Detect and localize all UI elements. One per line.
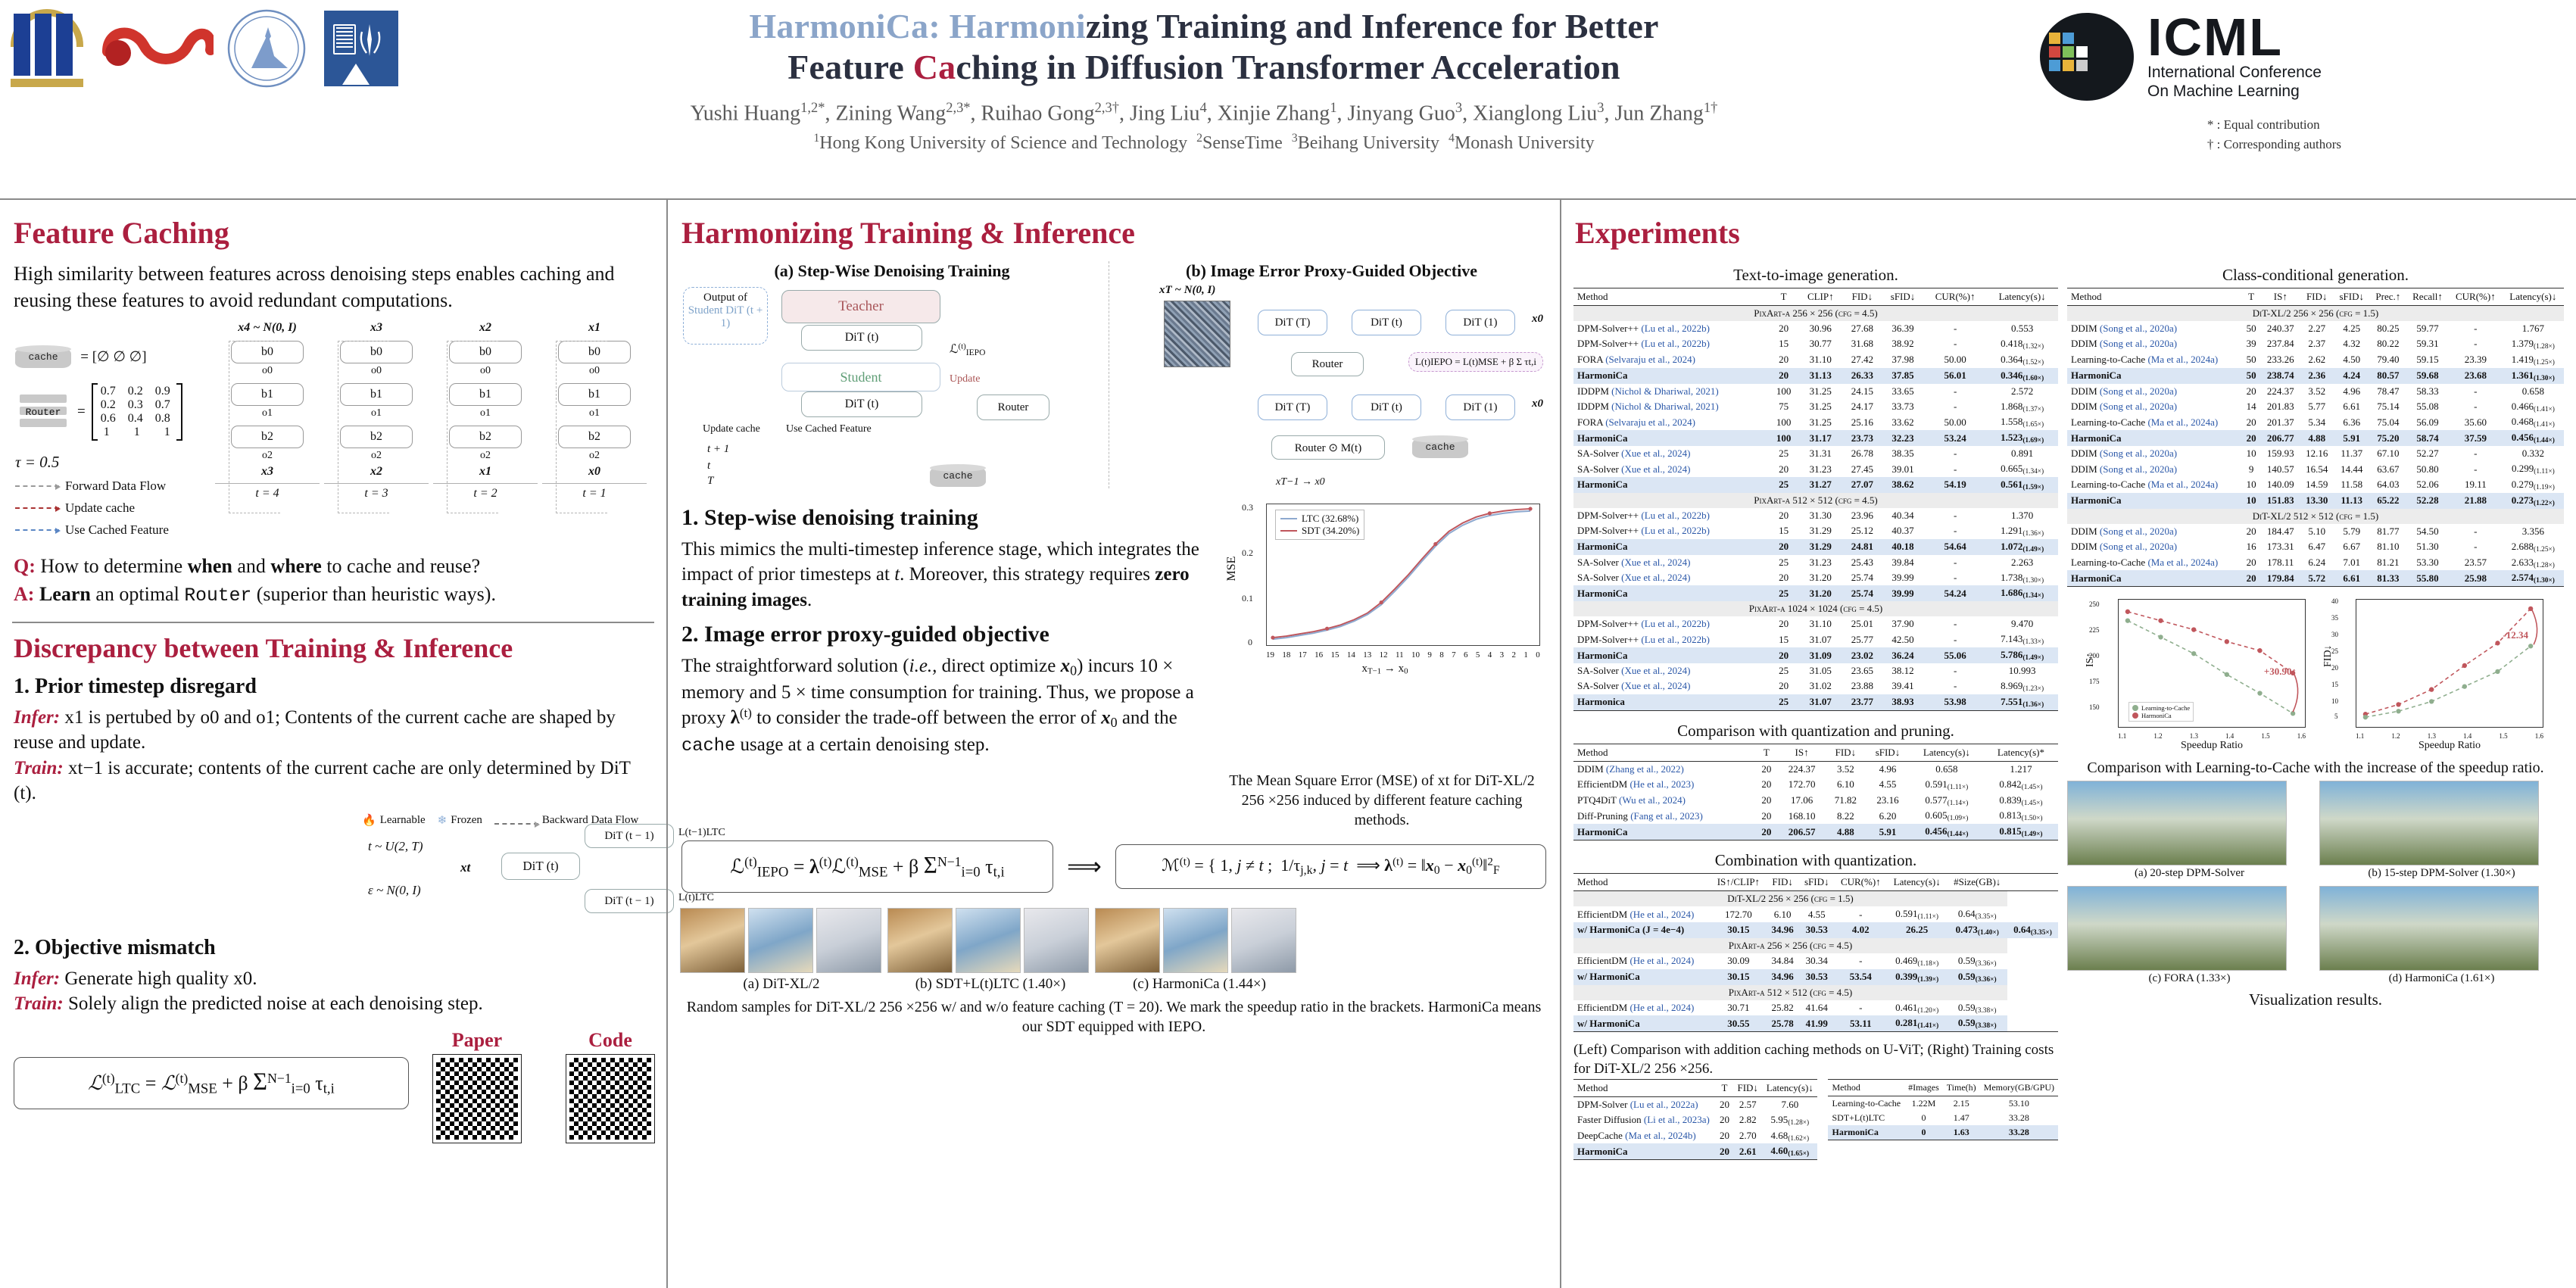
implication-arrow-icon: ⟹: [1067, 852, 1102, 881]
table-cell-method: DDIM (Song et al., 2020a): [2067, 446, 2241, 461]
table-cell: 0.468(1.41×): [2503, 414, 2564, 430]
table-cell: 0.561(1.59×): [1986, 477, 2058, 493]
table-group-row: DiT-XL/2 256 × 256 (cfg = 1.5): [2067, 306, 2564, 322]
table-cell-method: DDIM (Song et al., 2020a): [2067, 524, 2241, 539]
table-cell: -: [1924, 446, 1986, 461]
table-group-row: PixArt-α 1024 × 1024 (cfg = 4.5): [1573, 601, 2058, 616]
table-cell: 27.07: [1843, 477, 1882, 493]
table-cell: 30.15: [1711, 922, 1766, 938]
table-cell: 25.43: [1843, 555, 1882, 570]
chart-mse: MSE 0.3 0.2 0.1 0: [1222, 496, 1548, 678]
mse-ytick: 0.3: [1242, 502, 1253, 513]
table-cell: 1.868(1.37×): [1986, 399, 2058, 415]
table-cell-method: DPM-Solver++ (Lu et al., 2022b): [1573, 632, 1769, 647]
institution-logos: [8, 6, 403, 91]
student-dit-node: DiT (t): [801, 391, 922, 417]
table-row: SDT+L(t)LTC01.4733.28: [1828, 1111, 2058, 1125]
table-cell: 16.54: [2300, 461, 2334, 477]
sample-caption-c: (c) HarmoniCa (1.44×): [1098, 976, 1301, 993]
cache-icon-a: cache: [930, 467, 986, 487]
table-cell: 5.786(1.49×): [1986, 647, 2058, 663]
table-cell: 23.65: [1843, 663, 1882, 678]
table-cell: 1.291(1.36×): [1986, 523, 2058, 539]
table-cell-method: HarmoniCa: [1828, 1125, 1904, 1140]
sample-images-row: [680, 908, 1548, 973]
column-harmonizing: Harmonizing Training & Inference (a) Ste…: [666, 198, 1560, 1288]
table-cell: 1.738(1.30×): [1986, 570, 2058, 586]
table-cell-method: HarmoniCa: [1573, 1143, 1716, 1159]
table-cell: 41.64: [1799, 1000, 1835, 1016]
subhead-prior-timestep: 1. Prior timestep disregard: [14, 675, 654, 699]
table-cell-method: EfficientDM (He et al., 2024): [1573, 953, 1711, 969]
table-cell: 173.31: [2261, 539, 2300, 555]
table-cell: 27.45: [1843, 461, 1882, 477]
table-cell: 30.15: [1711, 969, 1766, 985]
table-cell: 0.279(1.19×): [2503, 477, 2564, 493]
table-row: EfficientDM (He et al., 2024)30.0934.843…: [1573, 953, 2058, 969]
qr-paper-label: Paper: [433, 1029, 521, 1052]
monash-logo: [320, 6, 403, 91]
figure-b-title: (b) Image Error Proxy-Guided Objective: [1115, 261, 1548, 281]
table-cell: 54.24: [1924, 585, 1986, 601]
cache-icon: cache: [15, 348, 71, 368]
table-cell: 17.06: [1778, 793, 1825, 809]
table-cell: 37.59: [2449, 430, 2503, 446]
table-cell: 2.27: [2300, 321, 2334, 336]
denoise-step: x3 b0 o0 b1 o1 b2 o2 x2 t = 3: [324, 321, 429, 548]
table-row: EfficientDM (He et al., 2024)30.7125.824…: [1573, 1000, 2058, 1016]
table-header: T: [1754, 744, 1778, 761]
table-cell: 0.456(1.44×): [1910, 824, 1984, 840]
chart-fid-vs-speedup: FID↓: [2321, 593, 2548, 753]
axis-label-b: xT−1 → x0: [1276, 476, 1325, 488]
table-cell: 11.58: [2334, 477, 2370, 493]
vis-image: [2067, 886, 2287, 971]
dashed-arrow-red-icon: [15, 507, 59, 509]
table-group-row: PixArt-α 512 × 512 (cfg = 4.5): [1573, 985, 2058, 1000]
denoise-step: x2 b0 o0 b1 o1 b2 o2 x1 t = 2: [433, 321, 538, 548]
table-cell-method: DDIM (Song et al., 2020a): [2067, 461, 2241, 477]
table-cell: 0.466(1.41×): [2503, 399, 2564, 415]
table-cell: 0.665(1.34×): [1986, 461, 2058, 477]
table-row: HarmoniCa2031.0923.0236.2455.065.786(1.4…: [1573, 647, 2058, 663]
table-cell: 55.80: [2406, 570, 2449, 586]
table-cell: 14.44: [2334, 461, 2370, 477]
snowflake-icon: ❄: [438, 813, 448, 828]
vis-item: (b) 15-step DPM-Solver (1.30×): [2319, 781, 2564, 880]
table-row: w/ HarmoniCa (J = 4e−4)30.1534.9630.534.…: [1573, 922, 2058, 938]
table-row: FORA (Selvaraju et al., 2024)10031.2525.…: [1573, 414, 2058, 430]
table-cell: 23.39: [2449, 352, 2503, 368]
table-header: Method: [2067, 288, 2241, 306]
section-title-discrepancy: Discrepancy between Training & Inference: [14, 632, 654, 664]
is-annotation: +30.90↑: [2264, 666, 2297, 678]
train-label: Train:: [14, 758, 64, 778]
table-cell: 30.53: [1799, 922, 1835, 938]
figure-feature-caching: cache = [∅ ∅ ∅] Router = 0.7 0.2 0.9 0.2…: [12, 321, 653, 548]
sample-image: [680, 908, 745, 973]
table-header: IS↑: [2261, 288, 2300, 306]
table-cell: 39.84: [1882, 555, 1924, 570]
table-cell: 6.10: [1826, 777, 1866, 793]
table-cell: 50: [2241, 368, 2261, 384]
table-cell: 40.34: [1882, 508, 1924, 523]
table-header: CUR(%)↑: [2449, 288, 2503, 306]
table-cell: 0.364(1.52×): [1986, 352, 2058, 368]
table-header: #Images: [1904, 1079, 1943, 1096]
table-row: Harmonica2531.0723.7738.9353.987.551(1.3…: [1573, 694, 2058, 710]
table-cell: 81.33: [2370, 570, 2406, 586]
table-row: Learning-to-Cache (Ma et al., 2024a)2020…: [2067, 414, 2564, 430]
image-error-proxy-body: The straightforward solution (i.e., dire…: [681, 653, 1205, 759]
table-row: HarmoniCa01.6333.28: [1828, 1125, 2058, 1140]
table-cell: 7.143(1.33×): [1986, 632, 2058, 647]
table-header: FID↓: [1733, 1079, 1762, 1096]
table-cell: 0.591(1.11×): [1910, 777, 1984, 793]
sensetime-logo: [100, 6, 214, 91]
table-cell: 26.33: [1843, 368, 1882, 384]
poster-title-line2: Feature Caching in Diffusion Transformer…: [485, 47, 1923, 88]
table-cell: -: [2449, 524, 2503, 539]
table-cell: 0.59(3.38×): [1947, 1015, 2007, 1031]
mask-definition-formula: ℳ(t) = { 1, j ≠ t ; 1/τj,k, j = t ⟹ λ(t)…: [1115, 844, 1546, 889]
question-label: Q:: [14, 555, 36, 577]
table-row: DDIM (Song et al., 2020a)39237.842.374.3…: [2067, 336, 2564, 352]
icml-mark-icon: [2037, 10, 2137, 104]
table-row: DPM-Solver++ (Lu et al., 2022b)2030.9627…: [1573, 321, 2058, 336]
table-row: Learning-to-Cache (Ma et al., 2024a)5023…: [2067, 352, 2564, 368]
table-cell: 38.92: [1882, 336, 1924, 352]
table-cell: -: [1924, 616, 1986, 632]
table-cell: 38.12: [1882, 663, 1924, 678]
table-cell: 31.10: [1798, 352, 1843, 368]
table-cell-method: SA-Solver (Xue et al., 2024): [1573, 663, 1769, 678]
table-cell: 10: [2241, 446, 2261, 461]
table-cell-method: DPM-Solver (Lu et al., 2022a): [1573, 1096, 1716, 1112]
table-cell: 31.29: [1798, 523, 1843, 539]
figure-training-graph: 🔥Learnable ❄Frozen Backward Data Flow t …: [12, 813, 654, 927]
table-row: PTQ4DiT (Wu et al., 2024)2017.0671.8223.…: [1573, 793, 2058, 809]
table-header: CLIP↑: [1798, 288, 1843, 306]
table-cell-method: DDIM (Song et al., 2020a): [2067, 336, 2241, 352]
icml-logo: ICML International Conference On Machine…: [2037, 8, 2567, 106]
dit-t-node-b: DiT (t): [1352, 310, 1421, 335]
fid-ytick: 30: [2331, 631, 2338, 638]
charts-speedup: IS↑: [2067, 593, 2564, 753]
iepo-loss-label: ℒ(t)IEPO: [950, 341, 985, 357]
legend-use-cached: Use Cached Feature: [15, 522, 204, 538]
table-cell: 53.11: [1835, 1015, 1887, 1031]
table-cell-method: HarmoniCa: [1573, 585, 1769, 601]
table-cell: 2.61: [1733, 1143, 1762, 1159]
footnote-block: * : Equal contribution † : Corresponding…: [2207, 115, 2341, 155]
table-cell-method: IDDPM (Nichol & Dhariwal, 2021): [1573, 384, 1769, 399]
table-cell: 20: [1716, 1112, 1733, 1128]
table-cell: 20: [1769, 616, 1798, 632]
answer-label: A:: [14, 583, 34, 605]
icml-subtitle-line2: On Machine Learning: [2147, 82, 2322, 101]
speedup-caption: Comparison with Learning-to-Cache with t…: [2067, 758, 2564, 778]
table-row: DDIM (Song et al., 2020a)16173.316.476.6…: [2067, 539, 2564, 555]
table-cell: 1.47: [1943, 1111, 1980, 1125]
table-cell: 2.633(1.28×): [2503, 555, 2564, 571]
table-row: HarmoniCa202.614.60(1.65×): [1573, 1143, 1817, 1159]
table-cell: 4.60(1.65×): [1762, 1143, 1817, 1159]
table-cell: 64.03: [2370, 477, 2406, 493]
table-cell: 8.969(1.23×): [1986, 678, 2058, 694]
column-feature-caching: Feature Caching High similarity between …: [0, 198, 666, 1288]
table-cell: 31.17: [1798, 430, 1843, 446]
step-input-label: x4 ~ N(0, I): [215, 321, 320, 336]
samples-caption: Random samples for DiT-XL/2 256 ×256 w/ …: [680, 997, 1548, 1037]
step-input-label: x1: [542, 321, 647, 336]
table-group-label: PixArt-α 256 × 256 (cfg = 4.5): [1573, 938, 2007, 953]
train-label-2: Train:: [14, 993, 64, 1014]
table-row: Diff-Pruning (Fang et al., 2023)20168.10…: [1573, 808, 2058, 824]
denoise-step: x1 b0 o0 b1 o1 b2 o2 x0 t = 1: [542, 321, 647, 548]
table-cell: 1.63: [1943, 1125, 1980, 1140]
table-cell: 30.34: [1799, 953, 1835, 969]
table-cell: 1.558(1.65×): [1986, 414, 2058, 430]
table-cell: 0.399(1.39×): [1887, 969, 1948, 985]
table-cell: 2.62: [2300, 352, 2334, 368]
table-header: T: [1716, 1079, 1733, 1096]
title-ca: Ca: [913, 48, 956, 86]
table-cell: 42.50: [1882, 632, 1924, 647]
vis-item: (d) HarmoniCa (1.61×): [2319, 886, 2564, 985]
table-cell: -: [2449, 446, 2503, 461]
table-cell: 33.28: [1980, 1111, 2058, 1125]
dashed-arrow-blue-icon: [15, 529, 59, 531]
table-cell: 35.60: [2449, 414, 2503, 430]
table-cell: 75: [1769, 399, 1798, 415]
table-cell-method: DPM-Solver++ (Lu et al., 2022b): [1573, 321, 1769, 336]
table-cell: 55.06: [1924, 647, 1986, 663]
table-cell-method: HarmoniCa: [1573, 647, 1769, 663]
vis-image: [2319, 781, 2539, 865]
mse-y-axis-label: MSE: [1225, 557, 1239, 582]
table-cell: 4.24: [2334, 368, 2370, 384]
table-cell-method: DDIM (Song et al., 2020a): [2067, 539, 2241, 555]
table-cell: 50: [2241, 321, 2261, 336]
table-header: T: [2241, 288, 2261, 306]
table-cell: 39.99: [1882, 585, 1924, 601]
table-cell: -: [1924, 570, 1986, 586]
table-cell: 80.25: [2370, 321, 2406, 336]
table-cell: 31.27: [1798, 477, 1843, 493]
table-cell: 31.29: [1798, 539, 1843, 555]
table-cell: 4.55: [1799, 906, 1835, 922]
mse-x-ticks: 191817161514131211109876543210: [1266, 650, 1540, 660]
dit-1-node-2: DiT (1): [1445, 395, 1515, 420]
table-cell: 6.61: [2334, 399, 2370, 415]
table-cell: 33.28: [1980, 1125, 2058, 1140]
table-cell: 31.23: [1798, 461, 1843, 477]
figure-method-overview: (a) Step-Wise Denoising Training Output …: [680, 261, 1548, 488]
table-cell: 31.09: [1798, 647, 1843, 663]
table-cell: 20: [1754, 808, 1778, 824]
table-cell: 4.25: [2334, 321, 2370, 336]
table-cell: 56.01: [1924, 368, 1986, 384]
objective-mismatch-body: Infer: Generate high quality x0. Train: …: [14, 966, 654, 1017]
router-equals: =: [77, 404, 86, 420]
table-cell: 12.16: [2300, 446, 2334, 461]
table-cell: 2.70: [1733, 1128, 1762, 1144]
table-cell: 25.78: [1766, 1015, 1798, 1031]
table-header: CUR(%)↑: [1924, 288, 1986, 306]
table-header: Time(h): [1943, 1079, 1980, 1096]
router-icon: Router: [15, 395, 71, 429]
table-cell: 54.50: [2406, 524, 2449, 539]
sample-caption-a: (a) DiT-XL/2: [680, 976, 883, 993]
poster-header: HarmoniCa: Harmonizing Training and Infe…: [0, 0, 2576, 198]
table-cell: 13.30: [2300, 493, 2334, 509]
table-row: HarmoniCa2531.2727.0738.6254.190.561(1.5…: [1573, 477, 2058, 493]
table-cell: 50.80: [2406, 461, 2449, 477]
table-cell-method: Diff-Pruning (Fang et al., 2023): [1573, 808, 1754, 824]
table-row: SA-Solver (Xue et al., 2024)2031.0223.88…: [1573, 678, 2058, 694]
table-header: FID↓: [1766, 874, 1798, 891]
table-cell: 79.40: [2370, 352, 2406, 368]
table-cell: 14: [2241, 399, 2261, 415]
table-cell: 80.22: [2370, 336, 2406, 352]
table-header: IS↑: [1778, 744, 1825, 761]
table-row: DDIM (Song et al., 2020a)50240.372.274.2…: [2067, 321, 2564, 336]
table-cell: 52.28: [2406, 493, 2449, 509]
step-input-label: x3: [324, 321, 429, 336]
table-cell: 58.74: [2406, 430, 2449, 446]
table-cell: 6.20: [1866, 808, 1910, 824]
title-colon: :: [928, 7, 949, 45]
table-cell: 27.68: [1843, 321, 1882, 336]
table-cell-method: SA-Solver (Xue et al., 2024): [1573, 678, 1769, 694]
table-cell: 50: [2241, 352, 2261, 368]
vis-image: [2319, 886, 2539, 971]
table-cell: 58.33: [2406, 384, 2449, 399]
table-cell: -: [2449, 539, 2503, 555]
table-group-label: DiT-XL/2 256 × 256 (cfg = 1.5): [2067, 306, 2564, 322]
table-cell: 38.62: [1882, 477, 1924, 493]
table-cell-method: HarmoniCa: [1573, 477, 1769, 493]
table-header: Latency(s)↓: [1986, 288, 2058, 306]
vis-item: (c) FORA (1.33×): [2067, 886, 2312, 985]
table-cell: 26.25: [1887, 922, 1948, 938]
use-cached-feature-label: Use Cached Feature: [786, 423, 872, 435]
table-cell: 8.22: [1826, 808, 1866, 824]
table-row: EfficientDM (He et al., 2024)172.706.104…: [1573, 906, 2058, 922]
table-cell: 31.10: [1798, 616, 1843, 632]
fid-ytick: 15: [2331, 681, 2338, 688]
dit-t-minus-1-node-bottom: DiT (t − 1): [585, 889, 674, 913]
table-cell: 2.688(1.25×): [2503, 539, 2564, 555]
table-group-label: DiT-XL/2 512 × 512 (cfg = 1.5): [2067, 509, 2564, 524]
table-row: DDIM (Song et al., 2020a)9140.5716.5414.…: [2067, 461, 2564, 477]
table-cell: 20: [1769, 461, 1798, 477]
qr-code-code-icon[interactable]: [566, 1055, 654, 1143]
table-cell: 1.370: [1986, 508, 2058, 523]
title-feature: Feature: [787, 48, 913, 86]
table-header: Latency(s)↓: [1910, 744, 1984, 761]
table-row: SA-Solver (Xue et al., 2024)2031.2025.74…: [1573, 570, 2058, 586]
table-cell: 52.27: [2406, 446, 2449, 461]
is-x-axis-label: Speedup Ratio: [2118, 740, 2306, 752]
table-combination-quantization: MethodIS↑/CLIP↑FID↓sFID↓CUR(%)↑Latency(s…: [1573, 873, 2058, 1032]
mse-ytick: 0.1: [1242, 593, 1253, 604]
qr-paper-code-icon[interactable]: [433, 1055, 521, 1143]
table-cell-method: EfficientDM (He et al., 2023): [1573, 777, 1754, 793]
table-cell: 25: [1769, 446, 1798, 461]
table-cell: 10: [2241, 493, 2261, 509]
table-cell: 20: [2241, 430, 2261, 446]
router-mask-node: Router ⊙ M(t): [1271, 435, 1385, 460]
table-cell: 71.82: [1826, 793, 1866, 809]
table-row: HarmoniCa20179.845.726.6181.3355.8025.98…: [2067, 570, 2564, 586]
table-cell: -: [1924, 678, 1986, 694]
table-row: HarmoniCa20206.774.885.9175.2058.7437.59…: [2067, 430, 2564, 446]
table-cell: 25.01: [1843, 616, 1882, 632]
table-cell: 7.01: [2334, 555, 2370, 571]
t-distribution: t ~ U(2, T): [368, 839, 423, 854]
table-cell: 31.25: [1798, 399, 1843, 415]
qr-paper[interactable]: Paper: [433, 1029, 521, 1143]
table-row: SA-Solver (Xue et al., 2024)2531.0523.65…: [1573, 663, 2058, 678]
hkust-logo: [8, 6, 92, 91]
dit-t-node-b2: DiT (t): [1352, 395, 1421, 420]
table-cell: 33.65: [1882, 384, 1924, 399]
table-cell-method: DDIM (Song et al., 2020a): [2067, 399, 2241, 415]
table-cell: 0.813(1.50×): [1984, 808, 2058, 824]
table-cell: 20: [2241, 524, 2261, 539]
table-cell: 3.52: [2300, 384, 2334, 399]
table-row: HarmoniCa2531.2025.7439.9954.241.686(1.3…: [1573, 585, 2058, 601]
xT-label: xT ~ N(0, I): [1159, 284, 1215, 297]
mse-legend-item-sdt: SDT (34.20%): [1280, 525, 1359, 537]
student-node: Student: [781, 363, 940, 391]
table-cell: 0.346(1.60×): [1986, 368, 2058, 384]
table-cell-method: w/ HarmoniCa: [1573, 969, 1711, 985]
table-header: #Size(GB)↓: [1947, 874, 2007, 891]
table-cell: 0.59(3.36×): [1947, 953, 2007, 969]
table-cell: 5.91: [1866, 824, 1910, 840]
table-cell: 20: [1754, 761, 1778, 777]
table-cell: 23.96: [1843, 508, 1882, 523]
table-cell: 20: [2241, 555, 2261, 571]
table-cell: -: [1924, 384, 1986, 399]
table-cell: 24.15: [1843, 384, 1882, 399]
prior-timestep-body: Infer: x1 is pertubed by o0 and o1; Cont…: [14, 705, 654, 806]
poster-columns: Feature Caching High similarity between …: [0, 198, 2576, 1288]
sample-image: [1231, 908, 1296, 973]
table-group-row: PixArt-α 512 × 512 (cfg = 4.5): [1573, 493, 2058, 508]
table-header: T: [1769, 288, 1798, 306]
table-cell: 7.60: [1762, 1096, 1817, 1112]
stepwise-training-body: This mimics the multi-timestep inference…: [681, 537, 1205, 613]
table-cell: 53.54: [1835, 969, 1887, 985]
table-cell: 31.23: [1798, 555, 1843, 570]
table-cell: 31.68: [1843, 336, 1882, 352]
table-cell: 31.25: [1798, 384, 1843, 399]
table-header: sFID↓: [1799, 874, 1835, 891]
icml-subtitle-line1: International Conference: [2147, 63, 2322, 83]
qr-code[interactable]: Code: [566, 1029, 654, 1143]
answer-row: A: Learn an optimal Router (superior tha…: [14, 581, 654, 610]
table-header: sFID↓: [1882, 288, 1924, 306]
is-ytick: 225: [2089, 626, 2100, 634]
table-row: DPM-Solver++ (Lu et al., 2022b)1531.0725…: [1573, 632, 2058, 647]
table-cell: 172.70: [1711, 906, 1766, 922]
sample-image: [1024, 908, 1089, 973]
router-node-b1: Router: [1291, 352, 1364, 376]
